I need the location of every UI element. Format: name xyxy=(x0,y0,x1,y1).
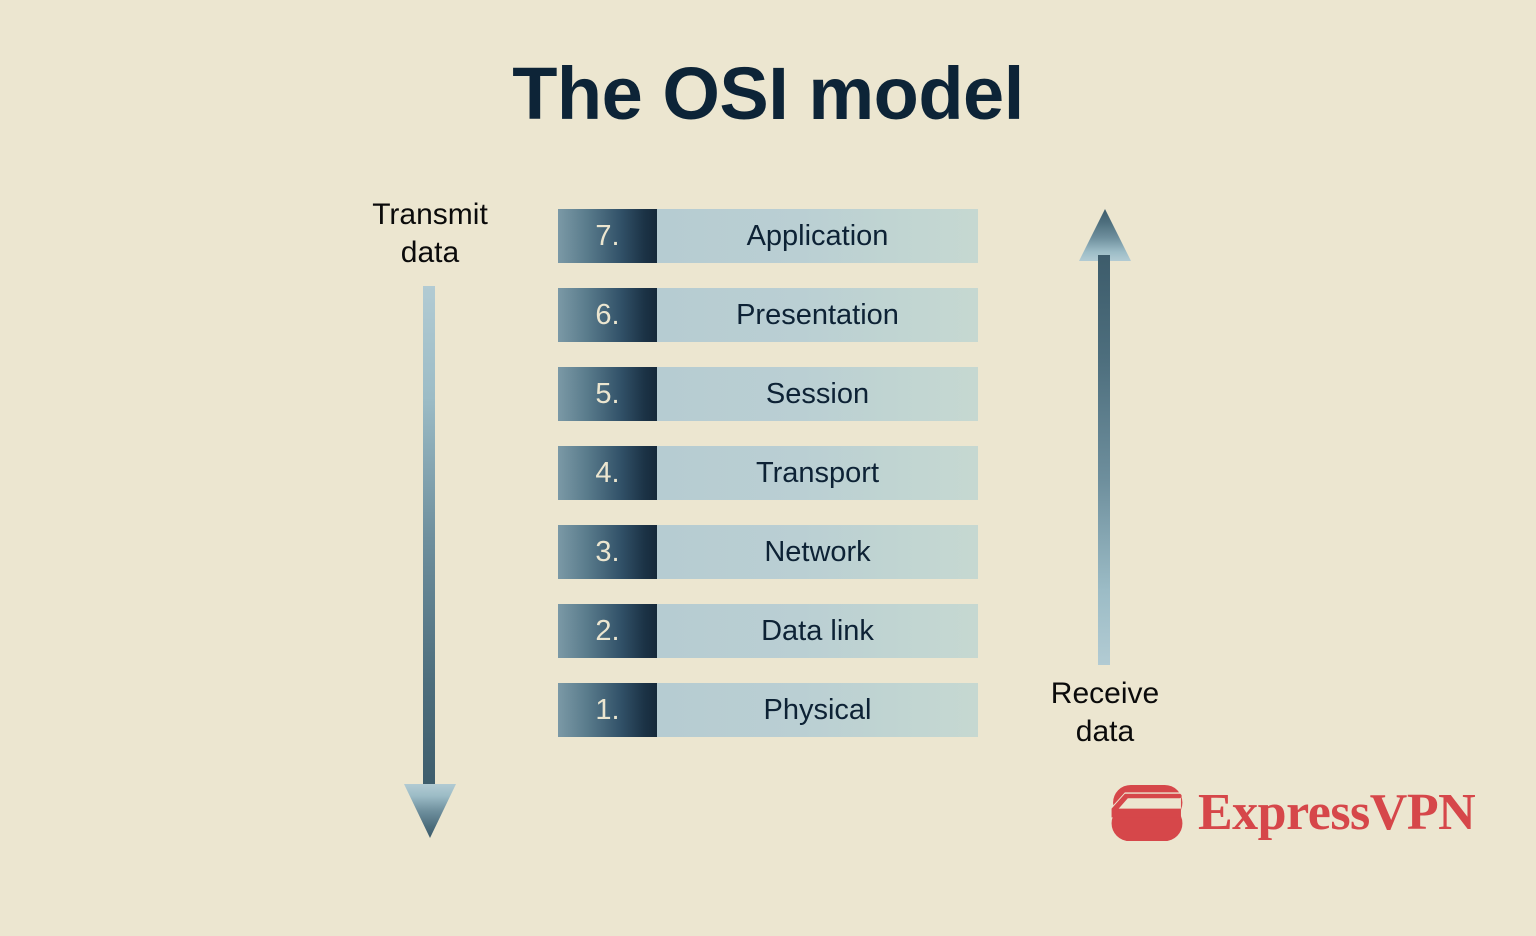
layer-row[interactable]: 4. Transport xyxy=(558,446,978,500)
layer-row[interactable]: 5. Session xyxy=(558,367,978,421)
arrow-down-icon xyxy=(330,286,530,936)
layer-row[interactable]: 7. Application xyxy=(558,209,978,263)
transmit-data-group: Transmit data xyxy=(330,196,530,273)
layer-number: 3. xyxy=(558,525,657,579)
layer-number: 1. xyxy=(558,683,657,737)
layer-row[interactable]: 3. Network xyxy=(558,525,978,579)
layer-number: 4. xyxy=(558,446,657,500)
layer-label: Presentation xyxy=(657,288,978,342)
expressvpn-wordmark: ExpressVPN xyxy=(1198,787,1475,839)
layer-label: Session xyxy=(657,367,978,421)
page-title: The OSI model xyxy=(0,55,1536,133)
expressvpn-e-mark-icon xyxy=(1110,782,1184,844)
layer-row[interactable]: 1. Physical xyxy=(558,683,978,737)
layer-row[interactable]: 2. Data link xyxy=(558,604,978,658)
receive-label-line-2: data xyxy=(1005,713,1205,751)
layer-label: Physical xyxy=(657,683,978,737)
layer-label: Network xyxy=(657,525,978,579)
layer-label: Application xyxy=(657,209,978,263)
layer-number: 7. xyxy=(558,209,657,263)
diagram-canvas: The OSI model Transmit data 7. A xyxy=(0,0,1536,875)
transmit-label-line-2: data xyxy=(330,234,530,272)
osi-layer-stack: 7. Application 6. Presentation 5. Sessio… xyxy=(558,209,978,737)
layer-number: 5. xyxy=(558,367,657,421)
transmit-label-line-1: Transmit xyxy=(330,196,530,234)
layer-row[interactable]: 6. Presentation xyxy=(558,288,978,342)
layer-label: Transport xyxy=(657,446,978,500)
layer-label: Data link xyxy=(657,604,978,658)
receive-data-label: Receive data xyxy=(1005,675,1205,752)
layer-number: 2. xyxy=(558,604,657,658)
layer-number: 6. xyxy=(558,288,657,342)
arrow-up-icon xyxy=(1005,205,1205,665)
expressvpn-logo[interactable]: ExpressVPN xyxy=(1110,782,1475,844)
receive-label-line-1: Receive xyxy=(1005,675,1205,713)
transmit-data-label: Transmit data xyxy=(330,196,530,273)
